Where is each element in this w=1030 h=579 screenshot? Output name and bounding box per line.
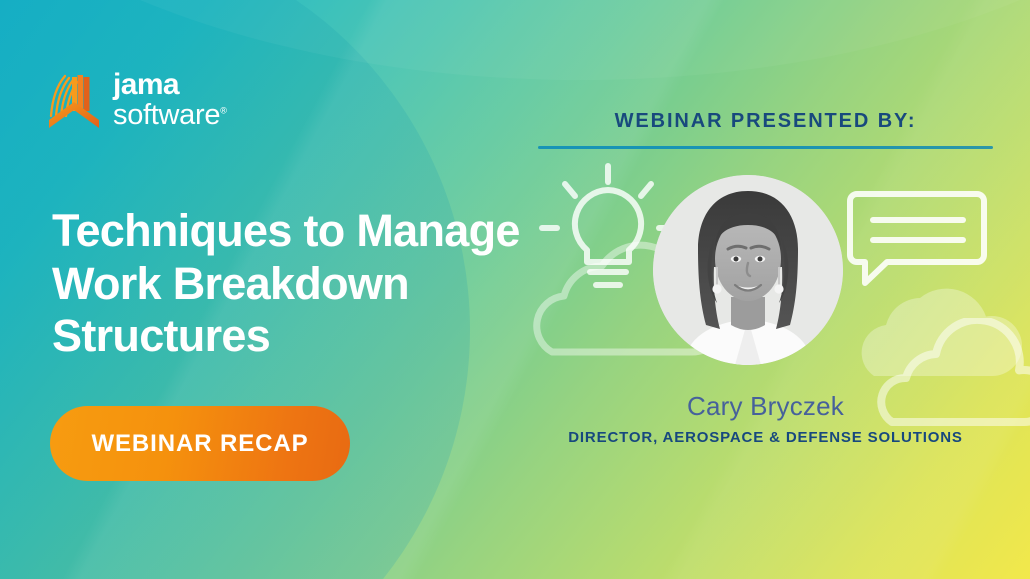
speaker-title: DIRECTOR, AEROSPACE & DEFENSE SOLUTIONS [538, 427, 993, 448]
logo-wordmark-software: software® [113, 100, 227, 131]
jama-logo-mark-icon [47, 68, 102, 135]
avatar [653, 175, 843, 365]
page-title: Techniques to Manage Work Breakdown Stru… [52, 205, 632, 363]
webinar-recap-button[interactable]: WEBINAR RECAP [50, 406, 350, 481]
registered-trademark-symbol: ® [220, 105, 226, 115]
webinar-promo-banner: jama software® Techniques to Manage Work… [0, 0, 1030, 579]
jama-software-logo[interactable]: jama software® [47, 68, 227, 135]
logo-wordmark-jama: jama [113, 70, 227, 101]
header-divider [538, 146, 993, 149]
speech-bubble-icon [845, 188, 990, 308]
speaker-name: Cary Bryczek [538, 391, 993, 422]
presented-by-label: WEBINAR PRESENTED BY: [538, 110, 993, 133]
cloud-outline-icon [870, 318, 1030, 443]
